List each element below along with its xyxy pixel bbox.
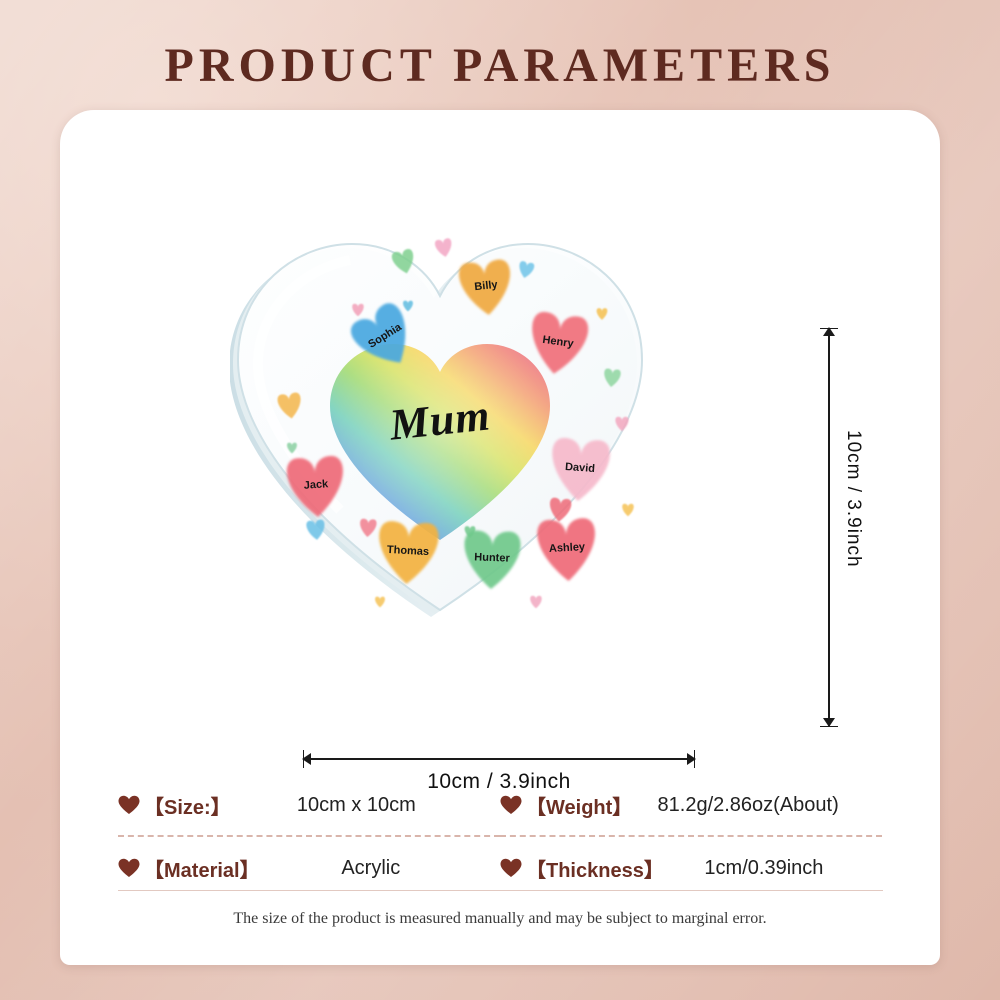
spec-value-thickness: 1cm/0.39inch [664,857,882,880]
width-dimension-line [303,758,695,760]
spec-table: 【Size:】 10cm x 10cm 【Weight】 81.2g/2.86o… [118,775,883,899]
heart-bullet-icon [118,858,140,878]
decorative-heart [622,504,634,517]
footnote-text: The size of the product is measured manu… [60,910,940,928]
center-name-label: Mum [387,389,493,450]
spec-value-size: 10cm x 10cm [231,794,500,817]
decorative-heart [530,596,542,609]
spec-key-size: 【Size:】 [144,791,231,820]
spec-value-weight: 81.2g/2.86oz(About) [632,794,882,817]
heart-bullet-icon [500,858,522,878]
product-image: BillySophiaHenryJackDavidThomasHunterAsh… [230,210,650,630]
spec-key-weight: 【Weight】 [526,791,632,820]
spec-row: 【Size:】 10cm x 10cm 【Weight】 81.2g/2.86o… [118,775,883,837]
page-title: PRODUCT PARAMETERS [0,38,1000,93]
heart-bullet-icon [118,795,140,815]
spec-key-material: 【Material】 [144,854,260,883]
heart-bullet-icon [500,795,522,815]
height-dimension-line [828,328,830,726]
decorative-heart [306,519,326,541]
spec-cell-weight: 【Weight】 81.2g/2.86oz(About) [500,775,882,837]
name-heart [537,518,598,583]
decorative-heart [434,238,453,259]
height-dimension-label: 10cm / 3.9inch [842,430,864,568]
decorative-heart [375,597,385,608]
product-card: BillySophiaHenryJackDavidThomasHunterAsh… [60,110,940,965]
spec-key-thickness: 【Thickness】 [526,854,664,883]
spec-cell-size: 【Size:】 10cm x 10cm [118,775,500,837]
spec-value-material: Acrylic [260,857,500,880]
footer-divider [118,890,883,891]
page-root: PRODUCT PARAMETERS [0,0,1000,1000]
